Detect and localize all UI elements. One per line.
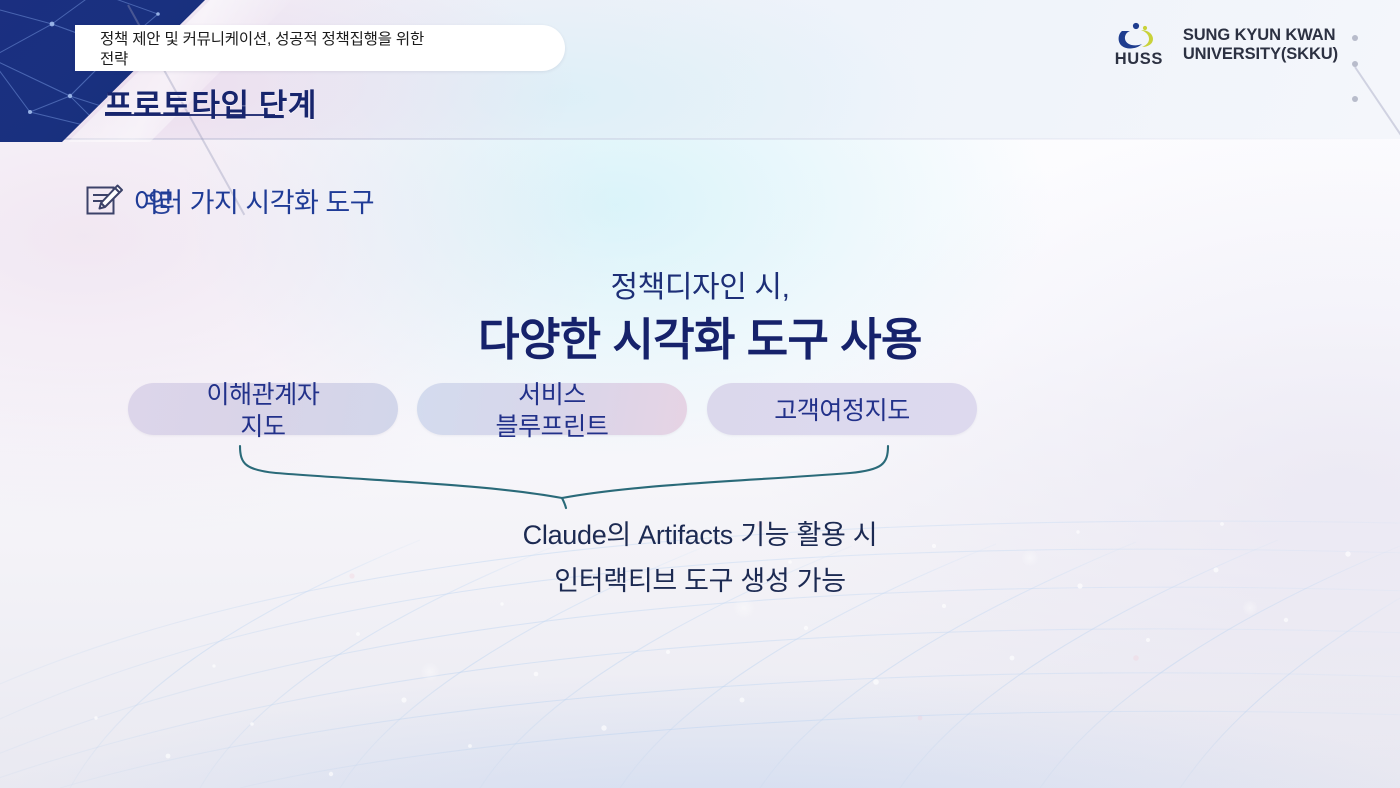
page-title: 프로토타입 단계 [104, 80, 317, 125]
huss-mark: HUSS [1108, 22, 1170, 68]
tool-pill-label: 고객여정지도 [707, 395, 977, 427]
page-title-underline [105, 114, 275, 116]
decor-dot [1352, 96, 1358, 102]
decor-dot [1352, 61, 1358, 67]
slide: 정책 제안 및 커뮤니케이션, 성공적 정책집행을 위한 전략 프로토타입 단계… [0, 0, 1400, 788]
tool-pill-group: 이해관계자 지도 서비스 블루프린트 고객여정지도 [0, 383, 1400, 443]
university-name: SUNG KYUN KWAN UNIVERSITY(SKKU) [1183, 26, 1338, 64]
subtitle-text: 정책 제안 및 커뮤니케이션, 성공적 정책집행을 위한 전략 [100, 30, 570, 70]
section-bullet: 여러 가지 시각화 도구 영 [84, 181, 374, 220]
caption-text: Claude의 Artifacts 기능 활용 시 인터랙티브 도구 생성 가능 [0, 512, 1400, 604]
section-bullet-text: 여러 가지 시각화 도구 [134, 188, 374, 218]
tool-pill-label: 이해관계자 지도 [128, 379, 398, 443]
brand-logo: HUSS SUNG KYUN KWAN UNIVERSITY(SKKU) [1108, 22, 1338, 68]
header-divider [0, 138, 1400, 140]
decor-dot [1352, 35, 1358, 41]
headline-text: 다양한 시각화 도구 사용 [0, 303, 1400, 368]
tool-pill-label: 서비스 블루프린트 [417, 379, 687, 443]
huss-wordmark: HUSS [1108, 50, 1170, 69]
lead-text: 정책디자인 시, [0, 262, 1400, 306]
section-bullet-label: 여러 가지 시각화 도구 영 [134, 181, 374, 220]
memo-pencil-icon [84, 182, 124, 220]
curly-brace-connector [236, 440, 896, 512]
